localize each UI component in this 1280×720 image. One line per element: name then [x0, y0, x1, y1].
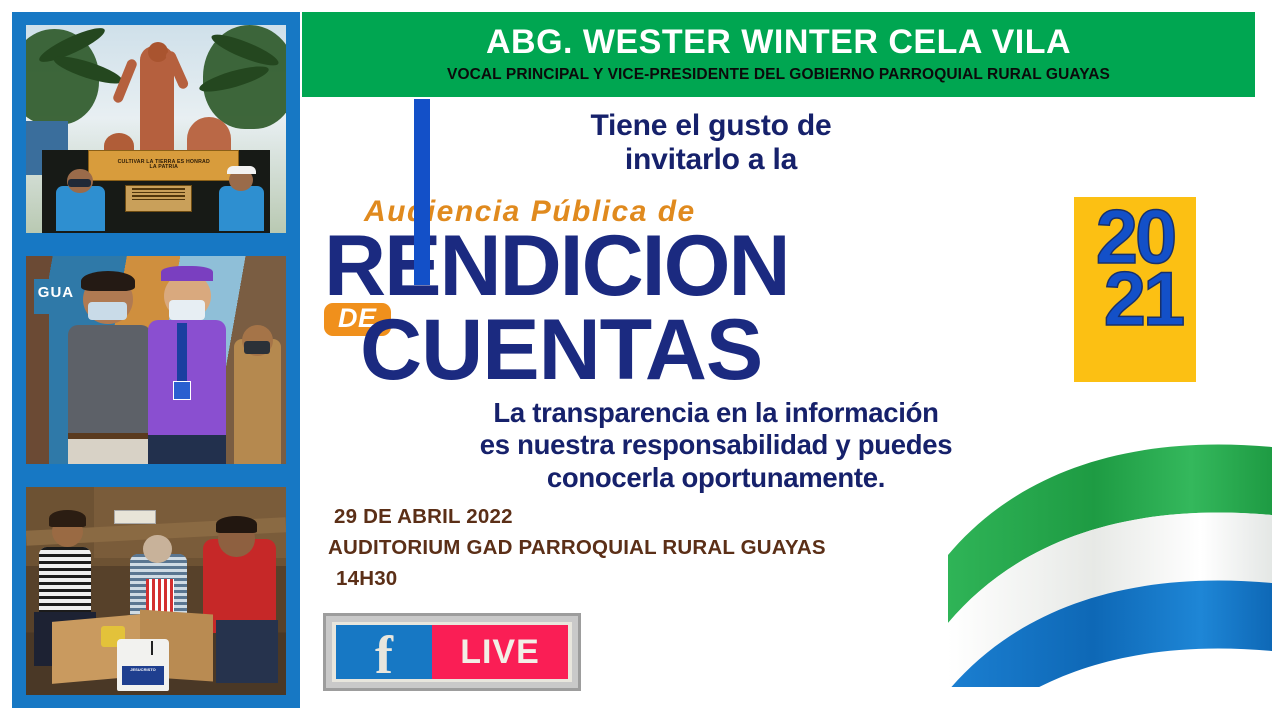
event-time: 14H30 [328, 564, 826, 595]
photo-column: CULTIVAR LA TIERRA ES HONRAD LA PATRIA G… [12, 12, 300, 708]
face-mask-icon [88, 302, 127, 321]
shipping-label [114, 510, 156, 525]
person-left [47, 169, 115, 231]
seated-person [234, 339, 281, 464]
container-label-text: JESUCRISTO [122, 666, 164, 672]
aid-distribution-photo: JESUCRISTO [23, 484, 289, 698]
guayas-flag [942, 427, 1280, 687]
hair-bun [49, 510, 85, 527]
face-mask-icon [68, 179, 91, 188]
presenter-role: VOCAL PRINCIPAL Y VICE-PRESIDENTE DEL GO… [447, 66, 1110, 84]
headband [161, 266, 213, 281]
face-mask-icon [244, 341, 270, 353]
woman-jeans [148, 435, 226, 464]
volunteer-pants [216, 620, 278, 682]
event-title-block: Audiencia Pública de RENDICION DE CUENTA… [324, 197, 1084, 391]
year-accent-bar [414, 99, 430, 285]
title-word-cuentas: CUENTAS [360, 313, 762, 389]
monument-photo: CULTIVAR LA TIERRA ES HONRAD LA PATRIA [23, 22, 289, 236]
container-slot [151, 641, 153, 656]
facebook-live-badge[interactable]: f LIVE [323, 613, 581, 691]
title-second-row: DE CUENTAS [324, 307, 1084, 391]
year-bottom-digits: 21 [1082, 269, 1204, 331]
year-badge: 20 21 [1074, 197, 1196, 382]
live-badge[interactable]: LIVE [432, 625, 568, 679]
facebook-live-inner: f LIVE [332, 622, 572, 682]
presenter-name: ABG. WESTER WINTER CELA VILA [486, 25, 1071, 61]
elder-head [143, 535, 172, 564]
facebook-icon[interactable]: f [336, 625, 432, 679]
man-belt [68, 433, 151, 439]
plaque-line-2: LA PATRIA [150, 165, 179, 170]
cap-icon [227, 166, 256, 173]
man-pants [68, 437, 151, 464]
man-hair [81, 271, 136, 292]
facebook-f-glyph: f [375, 630, 393, 681]
person-shirt [219, 186, 264, 231]
title-word-rendicion: RENDICION [324, 229, 1084, 305]
header-band: ABG. WESTER WINTER CELA VILA VOCAL PRINC… [302, 12, 1255, 97]
food-package [146, 579, 175, 612]
live-label: LIVE [460, 633, 540, 672]
monument-name-plate [125, 185, 193, 212]
person-right [211, 169, 273, 231]
id-badge [173, 381, 191, 400]
event-details: 29 DE ABRIL 2022 AUDITORIUM GAD PARROQUI… [328, 502, 826, 594]
main-panel: Tiene el gusto de invitarlo a la Audienc… [302, 97, 1280, 720]
face-mask-icon [169, 300, 205, 321]
lanyard [177, 323, 187, 385]
container-label: JESUCRISTO [122, 666, 164, 685]
volunteer-hair [216, 516, 258, 533]
couple-photo: GUA [23, 253, 289, 467]
tagline-line-1: La transparencia en la información [302, 397, 1130, 429]
statue-head [148, 42, 168, 62]
event-date: 29 DE ABRIL 2022 [328, 502, 826, 533]
event-venue: AUDITORIUM GAD PARROQUIAL RURAL GUAYAS [328, 533, 826, 564]
